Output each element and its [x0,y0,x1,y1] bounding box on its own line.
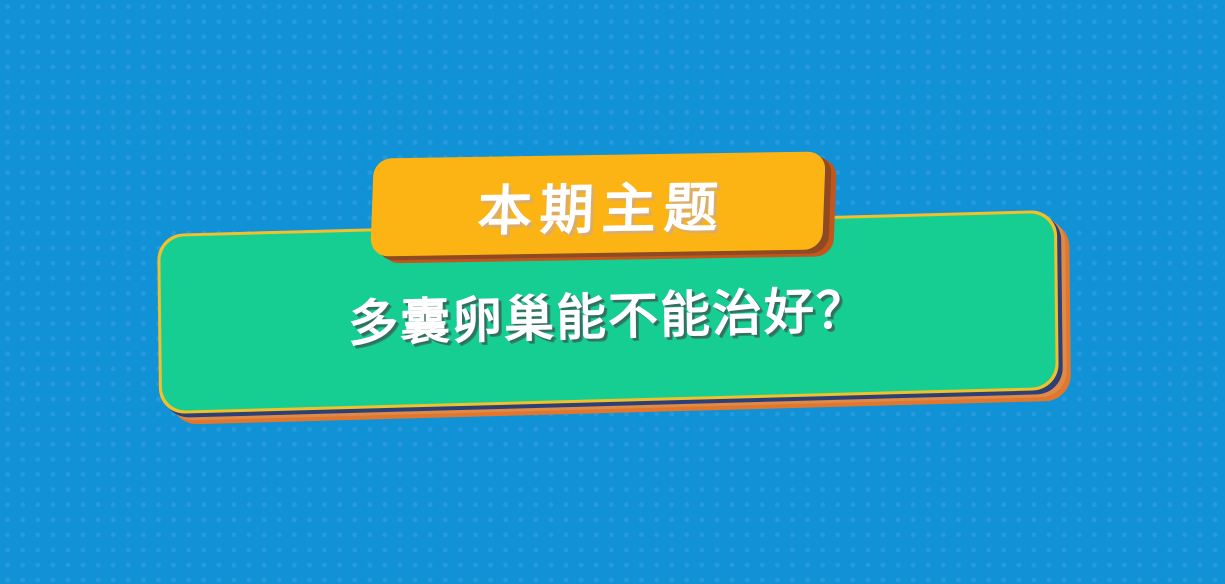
banner-title-text: 本期主题 [469,162,728,245]
topic-headline-text: 多囊卵巢能不能治好？ [348,270,869,356]
poster-canvas: 多囊卵巢能不能治好？ 本期主题 [0,0,1225,584]
banner-face-orange: 本期主题 [370,151,826,256]
title-banner-stack: 本期主题 [372,155,824,253]
banner-title-wrap: 本期主题 [370,151,826,256]
